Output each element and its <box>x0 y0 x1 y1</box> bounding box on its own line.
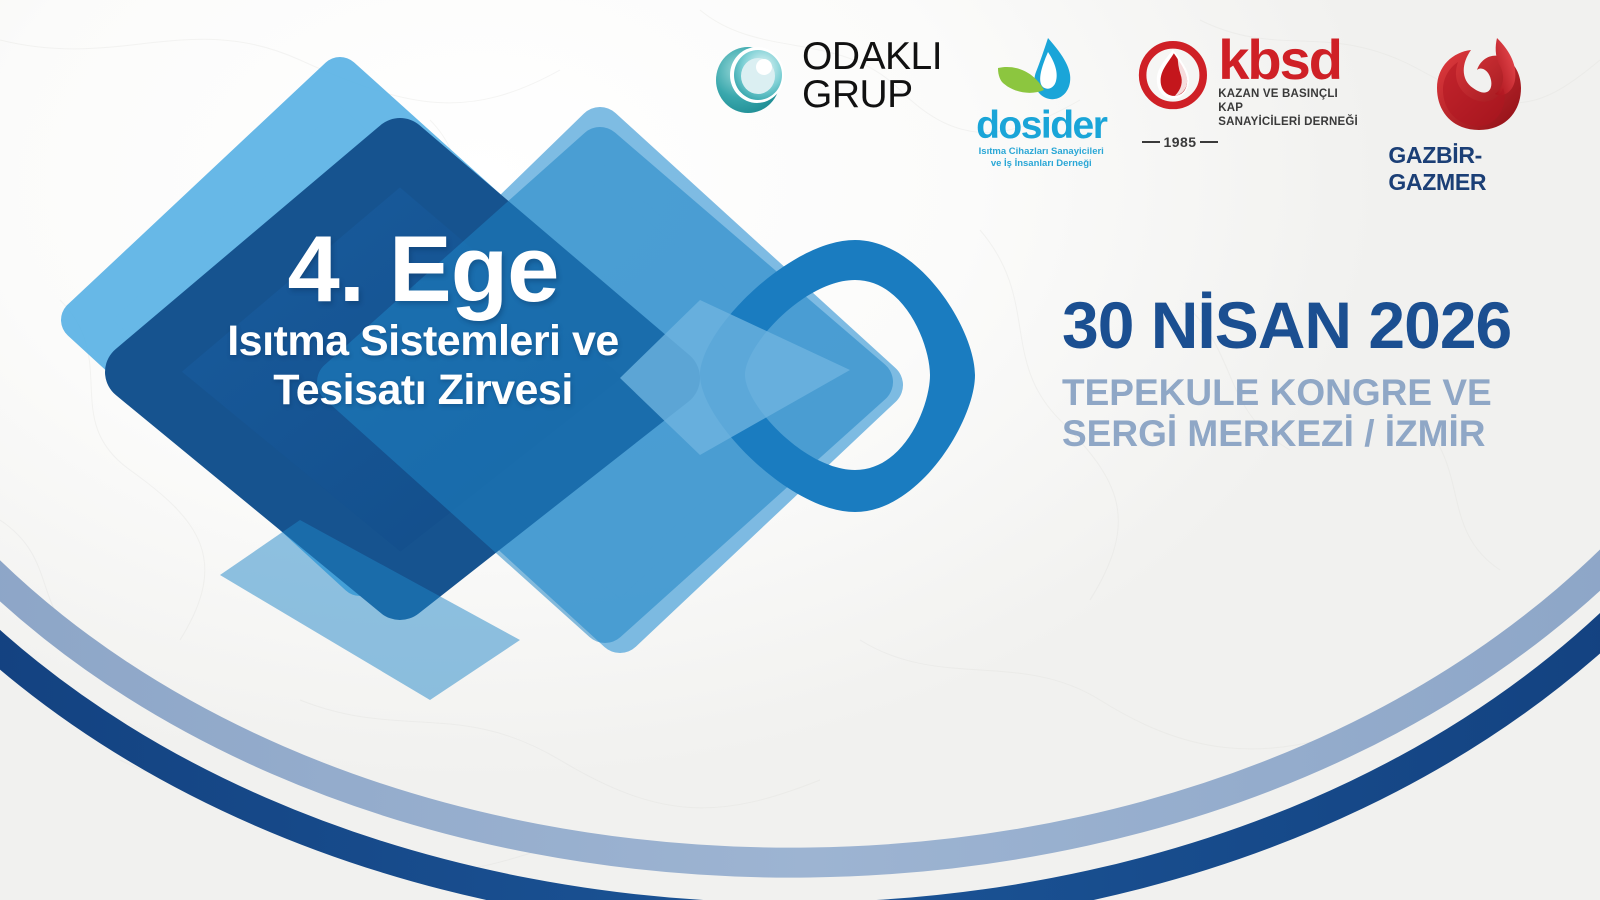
kbsd-year-dash-left <box>1142 141 1160 143</box>
event-title-block: 4. Ege Isıtma Sistemleri ve Tesisatı Zir… <box>183 222 663 412</box>
odakli-line2: GRUP <box>802 76 942 114</box>
dosider-wordmark: dosider <box>976 108 1106 143</box>
gazbir-wordmark: GAZBİR-GAZMER <box>1388 142 1570 196</box>
logo-dosider: dosider Isıtma Cihazları Sanayicileri ve… <box>976 34 1106 170</box>
dosider-sub-line1: Isıtma Cihazları Sanayicileri <box>979 146 1104 158</box>
event-venue: TEPEKULE KONGRE VE SERGİ MERKEZİ / İZMİR <box>1062 372 1512 455</box>
flame-circle-icon <box>1136 36 1210 118</box>
dosider-sub-line2: ve İş İnsanları Derneği <box>979 158 1104 170</box>
bottom-arc-navy <box>0 440 1600 900</box>
kbsd-wordmark: kbsd <box>1218 36 1358 84</box>
red-flame-swirl-icon <box>1431 30 1527 140</box>
event-subtitle-line1: Isıtma Sistemleri ve <box>183 320 663 363</box>
event-subtitle-line2: Tesisatı Zirvesi <box>183 369 663 412</box>
kbsd-year-value: 1985 <box>1163 134 1196 150</box>
sponsor-logo-row: ODAKLI GRUP dosider Isıtma Cihazları San… <box>700 30 1570 175</box>
kbsd-sub-line2: SANAYİCİLERİ DERNEĞİ <box>1218 115 1358 129</box>
leaf-droplet-icon <box>986 34 1096 106</box>
logo-odakli-grup: ODAKLI GRUP <box>708 30 942 122</box>
odakli-line1: ODAKLI <box>802 38 942 76</box>
kbsd-text-block: kbsd KAZAN VE BASINÇLI KAP SANAYİCİLERİ … <box>1218 36 1358 130</box>
event-info-block: 30 NİSAN 2026 TEPEKULE KONGRE VE SERGİ M… <box>1062 292 1512 455</box>
kbsd-founding-year: 1985 <box>1142 134 1217 150</box>
kbsd-sub-line1: KAZAN VE BASINÇLI KAP <box>1218 87 1358 116</box>
event-date: 30 NİSAN 2026 <box>1062 292 1512 358</box>
kbsd-subtitle: KAZAN VE BASINÇLI KAP SANAYİCİLERİ DERNE… <box>1218 87 1358 130</box>
eye-lens-icon <box>708 30 792 122</box>
poster-canvas: 4. Ege Isıtma Sistemleri ve Tesisatı Zir… <box>0 0 1600 900</box>
logo-kbsd: kbsd KAZAN VE BASINÇLI KAP SANAYİCİLERİ … <box>1136 36 1358 130</box>
odakli-wordmark: ODAKLI GRUP <box>802 38 942 114</box>
kbsd-year-dash-right <box>1200 141 1218 143</box>
event-venue-line1: TEPEKULE KONGRE VE <box>1062 372 1512 413</box>
logo-gazbir-gazmer: GAZBİR-GAZMER <box>1388 30 1570 196</box>
event-venue-line2: SERGİ MERKEZİ / İZMİR <box>1062 413 1512 454</box>
dosider-subtitle: Isıtma Cihazları Sanayicileri ve İş İnsa… <box>979 146 1104 170</box>
event-edition-title: 4. Ege <box>183 222 663 316</box>
